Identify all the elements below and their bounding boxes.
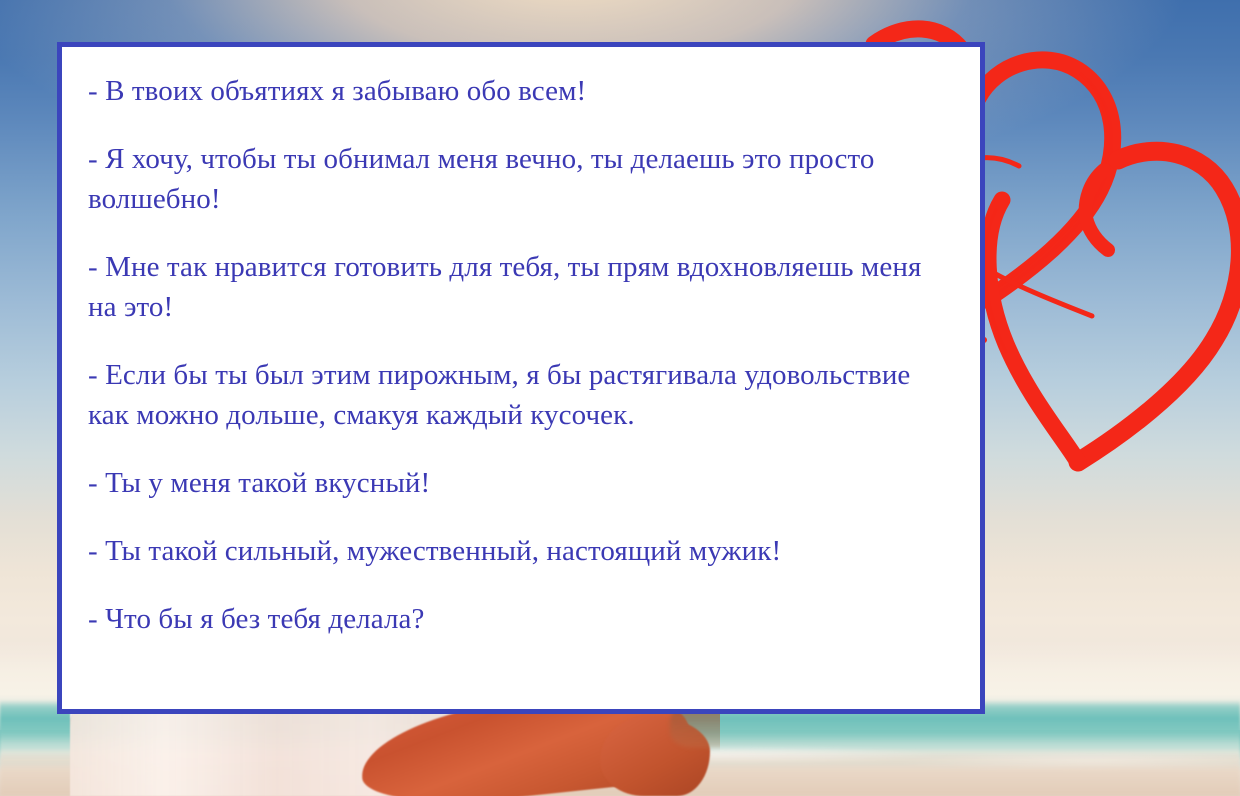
phrase-line: - Мне так нравится готовить для тебя, ты… [88, 247, 954, 327]
phrase-line: - Ты такой сильный, мужественный, настоя… [88, 531, 954, 571]
phrase-line: - В твоих объятиях я забываю обо всем! [88, 71, 954, 111]
phrase-line: - Ты у меня такой вкусный! [88, 463, 954, 503]
screenshot-canvas: - В твоих объятиях я забываю обо всем! -… [0, 0, 1240, 796]
phrase-line: - Я хочу, чтобы ты обнимал меня вечно, т… [88, 139, 954, 219]
phrase-line: - Если бы ты был этим пирожным, я бы рас… [88, 355, 954, 435]
couple-embrace-photo [60, 700, 720, 796]
text-card: - В твоих объятиях я забываю обо всем! -… [57, 42, 985, 714]
phrase-line: - Что бы я без тебя делала? [88, 599, 954, 639]
text-card-body: - В твоих объятиях я забываю обо всем! -… [62, 47, 980, 639]
